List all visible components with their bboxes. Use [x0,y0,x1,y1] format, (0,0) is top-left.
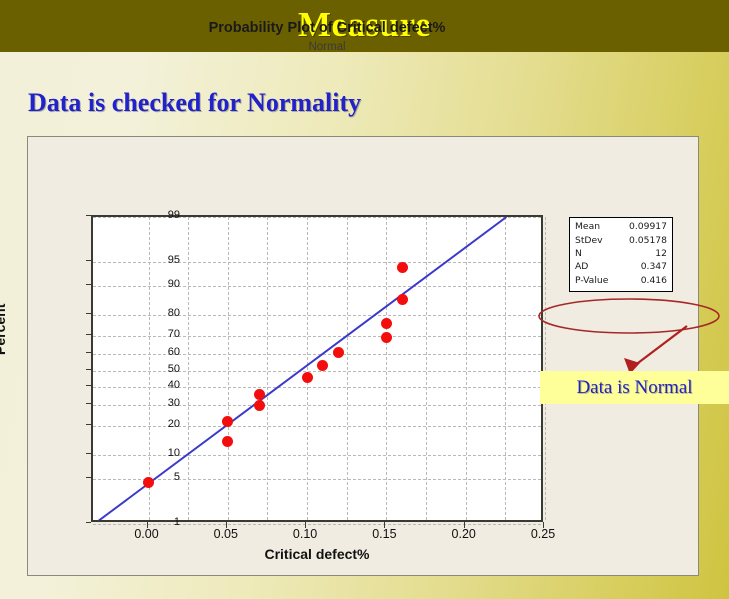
probability-plot-area [91,215,543,522]
statistic-value: 0.416 [618,274,668,287]
x-axis-tick-label: 0.05 [196,527,256,541]
y-axis-tick-mark [86,284,91,285]
data-point [381,318,392,329]
y-axis-tick-label: 70 [168,328,180,340]
data-point [302,372,313,383]
y-axis-tick-mark [86,424,91,425]
y-axis-tick-mark [86,352,91,353]
y-axis-tick-label: 50 [168,363,180,375]
data-points [93,217,541,520]
data-point [397,262,408,273]
x-axis-tick-mark [226,522,227,528]
y-axis-tick-label: 95 [168,254,180,266]
statistic-value: 0.05178 [618,234,668,247]
y-axis-tick-mark [86,385,91,386]
x-axis-tick-label: 0.00 [117,527,177,541]
x-axis-tick-mark [384,522,385,528]
y-axis-tick-mark [86,215,91,216]
statistic-value: 0.347 [618,261,668,274]
grid-line-horizontal [93,524,541,525]
y-axis-tick-mark [86,522,91,523]
data-point [317,360,328,371]
y-axis-label: Percent [0,304,8,355]
statistics-box: Mean0.09917StDev0.05178N12AD0.347P-Value… [569,217,673,292]
y-axis-tick-label: 40 [168,379,180,391]
y-axis-tick-label: 90 [168,278,180,290]
x-axis-tick-label: 0.20 [434,527,494,541]
statistics-row: P-Value0.416 [574,274,668,287]
statistic-key: Mean [574,221,618,234]
statistics-row: N12 [574,248,668,261]
y-axis-tick-label: 10 [168,447,180,459]
x-axis-label: Critical defect% [91,546,543,562]
data-point [254,400,265,411]
statistic-key: P-Value [574,274,618,287]
data-point [333,347,344,358]
statistics-row: AD0.347 [574,261,668,274]
y-axis-tick-mark [86,334,91,335]
statistic-value: 12 [618,248,668,261]
x-axis-tick-mark [147,522,148,528]
statistics-table: Mean0.09917StDev0.05178N12AD0.347P-Value… [574,221,668,288]
y-axis-tick-mark [86,369,91,370]
y-axis-tick-mark [86,477,91,478]
data-point [397,294,408,305]
statistic-key: AD [574,261,618,274]
y-axis-tick-label: 20 [168,418,180,430]
statistic-key: N [574,248,618,261]
y-axis-tick-mark [86,313,91,314]
slide-root: Measure Data is checked for Normality Pr… [0,0,729,599]
statistic-value: 0.09917 [618,221,668,234]
y-axis-tick-label: 30 [168,397,180,409]
x-axis-tick-label: 0.25 [513,527,573,541]
y-axis-tick-mark [86,403,91,404]
data-point [222,416,233,427]
grid-line-vertical [545,217,546,520]
data-point [143,477,154,488]
callout-box: Data is Normal [540,371,729,404]
x-axis-tick-label: 0.10 [275,527,335,541]
callout-label: Data is Normal [576,377,692,399]
y-axis-tick-label: 5 [174,471,180,483]
statistics-row: Mean0.09917 [574,221,668,234]
x-axis-tick-mark [543,522,544,528]
x-axis-tick-mark [305,522,306,528]
chart-title: Probability Plot of Critical defect% [27,20,627,36]
statistic-key: StDev [574,234,618,247]
data-point [254,389,265,400]
slide-subtitle: Data is checked for Normality [28,88,361,118]
y-axis-tick-label: 60 [168,346,180,358]
x-axis-tick-mark [464,522,465,528]
data-point [381,332,392,343]
data-point [222,436,233,447]
x-axis-tick-label: 0.15 [354,527,414,541]
y-axis-tick-label: 80 [168,307,180,319]
y-axis-tick-mark [86,453,91,454]
chart-subtitle: Normal [27,41,627,53]
y-axis-tick-label: 99 [168,209,180,221]
statistics-row: StDev0.05178 [574,234,668,247]
y-axis-tick-mark [86,260,91,261]
